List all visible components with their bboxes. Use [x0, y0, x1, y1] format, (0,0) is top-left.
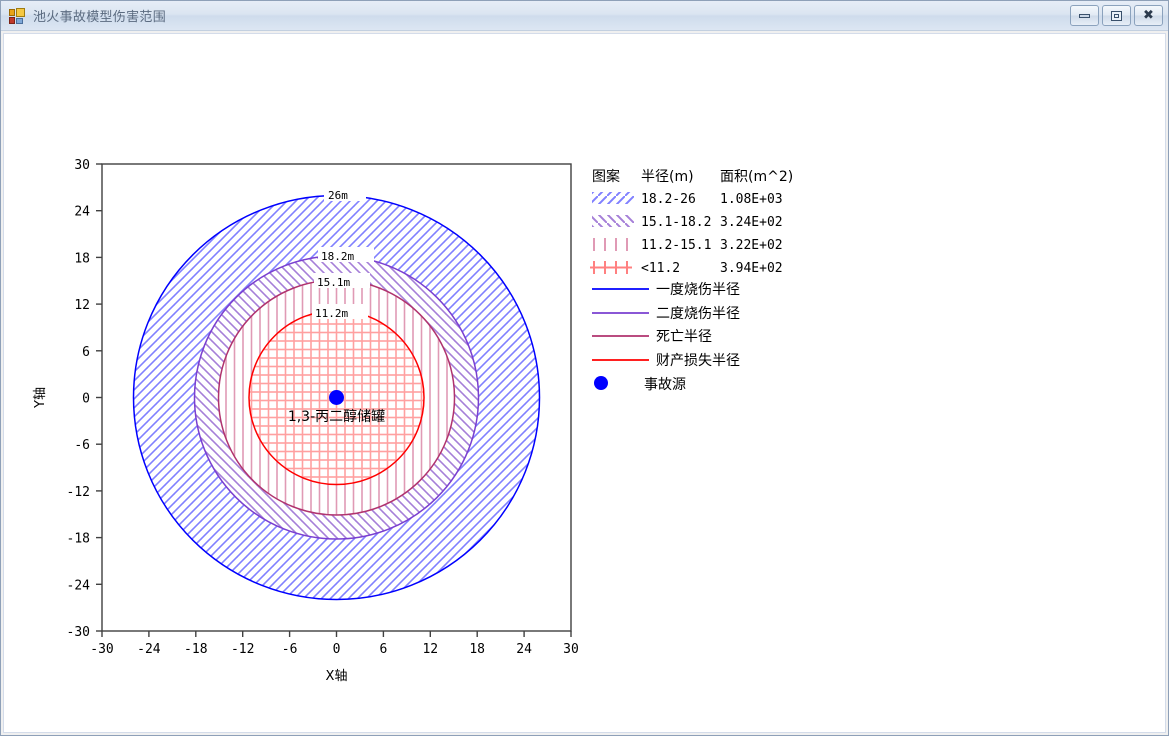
tank-label: 1,3-丙二醇储罐	[288, 408, 385, 425]
y-tick-5: 0	[82, 392, 90, 407]
legend-line-label-2: 死亡半径	[656, 329, 712, 345]
y-tick-1: 24	[74, 205, 90, 220]
legend-row-pattern-1: 15.1-18.2 3.24E+02	[592, 215, 783, 230]
x-tick-9: 24	[516, 642, 532, 657]
ring-label-11-2m: 11.2m	[315, 307, 348, 320]
x-tick-7: 12	[422, 642, 438, 657]
maximize-icon	[1111, 11, 1122, 21]
y-tick-9: -24	[67, 578, 91, 593]
ring-label-15-1m: 15.1m	[317, 276, 350, 289]
x-tick-0: -30	[90, 642, 113, 657]
client-area: 26m 18.2m 15.1m 11.2m 1,3-丙二醇储罐	[3, 33, 1166, 733]
legend-area-1: 3.24E+02	[720, 215, 783, 230]
x-axis-title: X轴	[326, 669, 348, 684]
ring-label-26m: 26m	[328, 189, 348, 202]
window-controls: ✖	[1070, 5, 1163, 26]
legend-header-pattern: 图案	[592, 168, 620, 185]
minimize-button[interactable]	[1070, 5, 1099, 26]
application-window: 池火事故模型伤害范围 ✖	[0, 0, 1169, 736]
legend-row-line-2: 死亡半径	[592, 329, 712, 345]
y-tick-6: -6	[74, 438, 90, 453]
legend-marker-label: 事故源	[644, 377, 686, 393]
legend-header-area: 面积(m^2)	[720, 169, 793, 185]
x-tick-4: -6	[282, 642, 298, 657]
legend-row-line-0: 一度烧伤半径	[592, 282, 740, 298]
legend-area-0: 1.08E+03	[720, 192, 783, 207]
x-tick-8: 18	[469, 642, 485, 657]
legend-row-pattern-2: 11.2-15.1 3.22E+02	[594, 238, 783, 253]
legend-area-2: 3.22E+02	[720, 238, 783, 253]
legend-header-radius: 半径(m)	[641, 169, 694, 185]
x-tick-3: -12	[231, 642, 254, 657]
legend-row-marker: 事故源	[594, 376, 686, 393]
pool-fire-damage-chart: 26m 18.2m 15.1m 11.2m 1,3-丙二醇储罐	[4, 34, 1165, 732]
y-tick-0: 30	[74, 158, 90, 173]
legend-row-pattern-3: <11.2 3.94E+02	[590, 261, 783, 276]
close-button[interactable]: ✖	[1134, 5, 1163, 26]
legend-line-label-1: 二度烧伤半径	[656, 306, 740, 322]
close-icon: ✖	[1143, 8, 1154, 23]
vertical-lines-swatch-icon	[594, 238, 627, 251]
y-axis-title: Y轴	[33, 387, 48, 409]
x-tick-2: -18	[184, 642, 207, 657]
legend-area-3: 3.94E+02	[720, 261, 783, 276]
accident-source-marker	[329, 390, 344, 405]
y-tick-10: -30	[67, 625, 90, 640]
legend-radius-3: <11.2	[641, 261, 680, 276]
y-tick-7: -12	[67, 485, 90, 500]
legend-radius-1: 15.1-18.2	[641, 215, 711, 230]
chart-svg: 26m 18.2m 15.1m 11.2m 1,3-丙二醇储罐	[4, 34, 1166, 732]
y-tick-3: 12	[74, 298, 90, 313]
minimize-icon	[1079, 14, 1090, 18]
back-diagonal-swatch-icon	[592, 215, 634, 227]
app-icon	[9, 8, 26, 24]
legend-radius-0: 18.2-26	[641, 192, 696, 207]
legend-row-pattern-0: 18.2-26 1.08E+03	[592, 192, 783, 207]
legend-line-label-0: 一度烧伤半径	[656, 282, 740, 298]
forward-diagonal-swatch-icon	[592, 192, 634, 204]
legend-row-line-3: 财产损失半径	[592, 353, 740, 369]
ring-label-18-2m: 18.2m	[321, 250, 354, 263]
window-title: 池火事故模型伤害范围	[33, 6, 166, 25]
cross-hatch-swatch-icon	[590, 261, 632, 274]
legend-row-line-1: 二度烧伤半径	[592, 306, 740, 322]
x-tick-5: 0	[333, 642, 341, 657]
legend-line-label-3: 财产损失半径	[656, 353, 740, 369]
y-tick-4: 6	[82, 345, 90, 360]
accident-source-dot-icon	[594, 376, 608, 390]
x-tick-10: 30	[563, 642, 579, 657]
chart-legend: 图案 半径(m) 面积(m^2) 18.2-26 1.08E+03 15.1-1…	[590, 168, 793, 393]
y-tick-2: 18	[74, 251, 90, 266]
y-tick-8: -18	[67, 532, 90, 547]
y-axis: 30 24 18 12 6 0 -6 -12 -18 -24 -30 Y轴	[33, 158, 102, 640]
x-tick-1: -24	[137, 642, 161, 657]
legend-radius-2: 11.2-15.1	[641, 238, 711, 253]
x-tick-6: 6	[379, 642, 387, 657]
x-axis: -30 -24 -18 -12 -6 0 6 12 18 24 30 X轴	[90, 631, 579, 684]
maximize-button[interactable]	[1102, 5, 1131, 26]
title-bar[interactable]: 池火事故模型伤害范围 ✖	[1, 1, 1168, 31]
